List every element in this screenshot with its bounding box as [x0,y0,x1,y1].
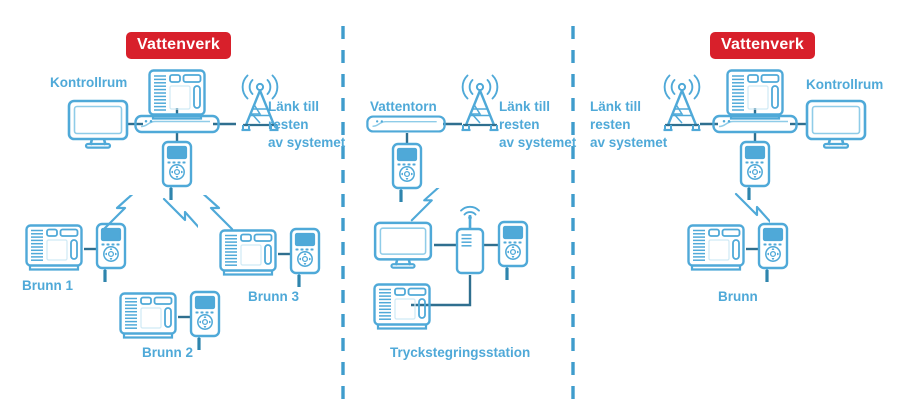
label-line-1: Länk till [590,99,641,114]
panel-right-group [664,71,866,283]
rtu-icon-booster [375,285,430,329]
label-line-2: resten [268,117,309,132]
monitor-icon-right [807,101,865,148]
label-line-2: resten [590,117,631,132]
radio-modem-icon-well-2 [191,292,219,350]
label-line-2: resten [499,117,540,132]
label-brunn-1: Brunn 1 [22,277,73,294]
label-line-3: av systemet [499,135,576,150]
label-lank-till-resten-left: Länk till resten av systemet [268,98,348,152]
label-kontrollrum-left: Kontrollrum [50,74,127,91]
rtu-icon-well-2 [121,294,176,338]
label-vattentorn: Vattentorn [370,98,437,115]
radio-modem-icon-right [741,142,769,200]
badge-vattenverk-left: Vattenverk [126,32,231,59]
label-lank-till-resten-right: Länk till resten av systemet [590,98,670,152]
radio-modem-icon-tower [393,144,421,202]
radio-link-bolt-right-panel [736,194,774,226]
label-brunn-3: Brunn 3 [248,288,299,305]
label-brunn-2: Brunn 2 [142,344,193,361]
label-brunn-right: Brunn [718,288,758,305]
label-lank-till-resten-middle: Länk till resten av systemet [499,98,577,152]
radio-modem-icon-well-3 [291,229,319,287]
antenna-tower-icon-middle [462,76,499,131]
radio-link-bolt-middle [412,184,442,220]
label-line-1: Länk till [499,99,550,114]
radio-link-bolt-mid [164,199,202,231]
rtu-icon-well-1 [27,226,82,270]
radio-link-bolt-right [200,191,232,229]
radio-modem-icon-booster [499,222,527,280]
rack-bar-icon-water-tower [367,117,444,132]
label-line-3: av systemet [268,135,345,150]
label-kontrollrum-right: Kontrollrum [806,76,883,93]
diagram-canvas: Vattenverk Kontrollrum Länk till resten … [0,0,900,416]
monitor-icon-booster [375,223,431,268]
rtu-icon-well-right [689,226,744,270]
label-line-3: av systemet [590,135,667,150]
label-tryckstegringsstation: Tryckstegringsstation [390,344,530,361]
radio-modem-icon-well-right [759,224,787,282]
monitor-icon [69,101,127,148]
wifi-router-icon [457,207,483,273]
badge-vattenverk-right: Vattenverk [710,32,815,59]
radio-modem-icon-well-1 [97,224,125,282]
radio-modem-icon [163,142,191,200]
label-line-1: Länk till [268,99,319,114]
rtu-icon-well-3 [221,231,276,275]
